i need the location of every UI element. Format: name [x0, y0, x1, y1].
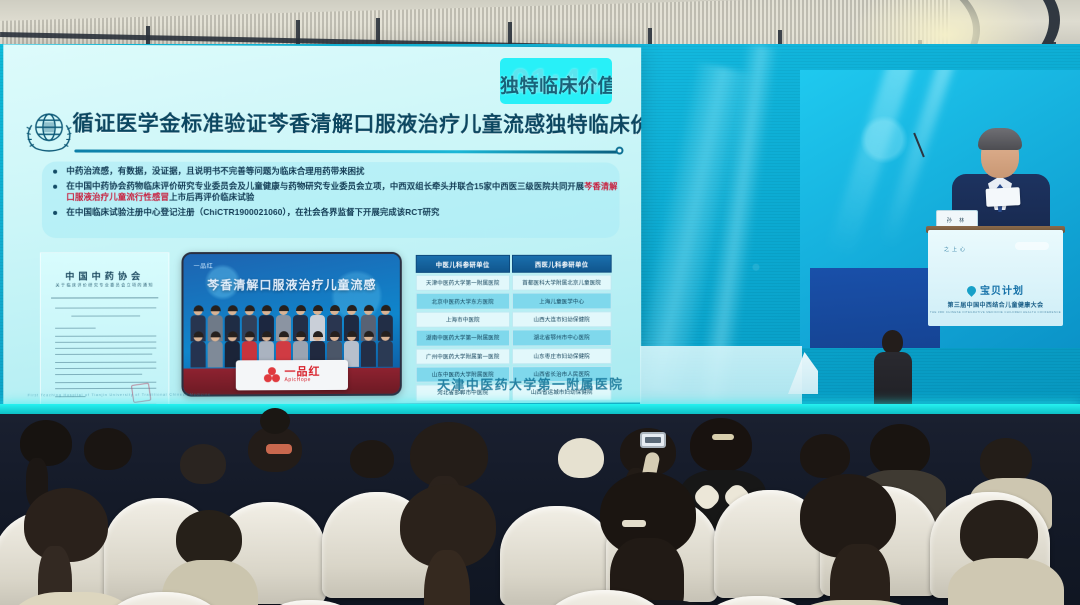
bullet-list: 中药治流感，有数据，没证据，且说明书不完善等问题为临床合理用药带来困扰 在中国中… [52, 166, 617, 221]
table-cell-western: 湖北省鄂州市中心医院 [512, 329, 612, 346]
table-cell-tcm: 湖南中医药大学第一附属医院 [416, 330, 510, 347]
bullet-item-3: 在中国临床试验注册中心登记注册（ChiCTR1900021060），在社会各界监… [52, 206, 617, 218]
title-underline [74, 149, 618, 153]
official-document-image: 中国中药协会 关于临床评价研究专业委员会立项的通知 [40, 252, 169, 405]
conference-hall-screenshot: 循证医学金标准验证芩香清解口服液治疗儿童流感独特临床价值 中药治流感，有数据，没… [0, 0, 1080, 605]
slide-footer-hospital: 天津中医药大学第一附属医院 [437, 374, 623, 394]
countdown-timer: 01:44 独特临床价值 [500, 58, 612, 104]
apichope-logo-icon [263, 367, 279, 383]
group-photo-banner-title: 芩香清解口服液治疗儿童流感 [184, 276, 400, 293]
bullet-item-1: 中药治流感，有数据，没证据，且说明书不完善等问题为临床合理用药带来困扰 [52, 166, 617, 178]
document-org-name: 中国中药协会 [41, 269, 168, 282]
table-row: 广州中医药大学附属第一医院 山东枣庄市妇幼保健院 [416, 348, 612, 365]
document-subtitle: 关于临床评价研究专业委员会立项的通知 [41, 282, 168, 288]
group-photo-sponsor-banner: 一品红 ApicHope [236, 360, 348, 390]
standing-attendee-head [882, 330, 903, 354]
table-header-tcm: 中医儿科参研单位 [416, 255, 510, 273]
table-row: 天津中医药大学第一附属医院 首都医科大学附属北京儿童医院 [416, 275, 612, 292]
speaker-hair [978, 128, 1022, 150]
podium-brand-logo: 宝贝计划 [928, 282, 1063, 297]
podium-brand-text: 宝贝计划 [980, 286, 1024, 297]
podium-secondary-logo: 之上心 [944, 246, 968, 253]
document-rule [51, 297, 158, 298]
un-style-globe-laurel-emblem [20, 103, 79, 156]
timer-overlapped-title-text: 独特临床价值 [500, 71, 612, 98]
table-cell-tcm: 北京中医药大学东方医院 [416, 293, 510, 310]
group-photo-image: 一品红 芩香清解口服液治疗儿童流感 [181, 252, 401, 397]
smartphone-recording[interactable] [640, 432, 666, 448]
slide-footer-english: First Teaching Hospital of Tianjin Unive… [28, 393, 211, 398]
speaker-held-card [986, 187, 1021, 207]
group-photo-top-logo: 一品红 [194, 261, 214, 270]
podium-conference-title-en: THE 3RD CHINESE INTEGRATIVE MEDICINE CHI… [928, 310, 1063, 314]
group-photo-person [191, 332, 206, 367]
water-drop-icon [965, 284, 978, 297]
table-cell-tcm: 天津中医药大学第一附属医院 [416, 275, 510, 291]
podium-badge [1015, 242, 1049, 250]
table-header-western: 西医儿科参研单位 [512, 255, 612, 273]
table-header-row: 中医儿科参研单位 西医儿科参研单位 [416, 255, 612, 273]
table-row: 上海市中医院 山西大连市妇幼保健院 [416, 311, 612, 328]
table-cell-western: 首都医科大学附属北京儿童医院 [512, 275, 612, 291]
table-cell-tcm: 上海市中医院 [416, 311, 510, 328]
audience-area [0, 414, 1080, 605]
group-photo-person [208, 332, 223, 367]
sponsor-name-en: ApicHope [284, 378, 320, 383]
slide-title: 循证医学金标准验证芩香清解口服液治疗儿童流感独特临床价值 [72, 107, 631, 139]
podium-front-panel: 之上心 宝贝计划 第三届中国中西结合儿童健康大会 THE 3RD CHINESE… [928, 230, 1063, 326]
table-cell-western: 山西大连市妇幼保健院 [512, 311, 612, 328]
bullet-item-2: 在中国中药协会药物临床评价研究专业委员会及儿童健康与药物研究专业委员会立项，中西… [52, 180, 617, 204]
table-cell-western: 山东枣庄市妇幼保健院 [512, 348, 612, 365]
podium-conference-title: 第三届中国中西结合儿童健康大会 [928, 300, 1063, 309]
title-end-dot [616, 147, 624, 155]
table-row: 湖南中医药大学第一附属医院 湖北省鄂州市中心医院 [416, 329, 612, 346]
speaker-live-feed-screen: 孙 林 之上心 宝贝计划 第三届中国中西结合儿童健康大会 THE 3RD CHI… [800, 70, 1080, 348]
stage-apron [640, 346, 802, 404]
table-row: 北京中医药大学东方医院 上海儿童医学中心 [416, 293, 612, 310]
group-photo-person [361, 332, 376, 367]
table-cell-tcm: 广州中医药大学附属第一医院 [416, 348, 510, 365]
table-cell-western: 上海儿童医学中心 [512, 293, 612, 309]
group-photo-person [378, 332, 393, 367]
